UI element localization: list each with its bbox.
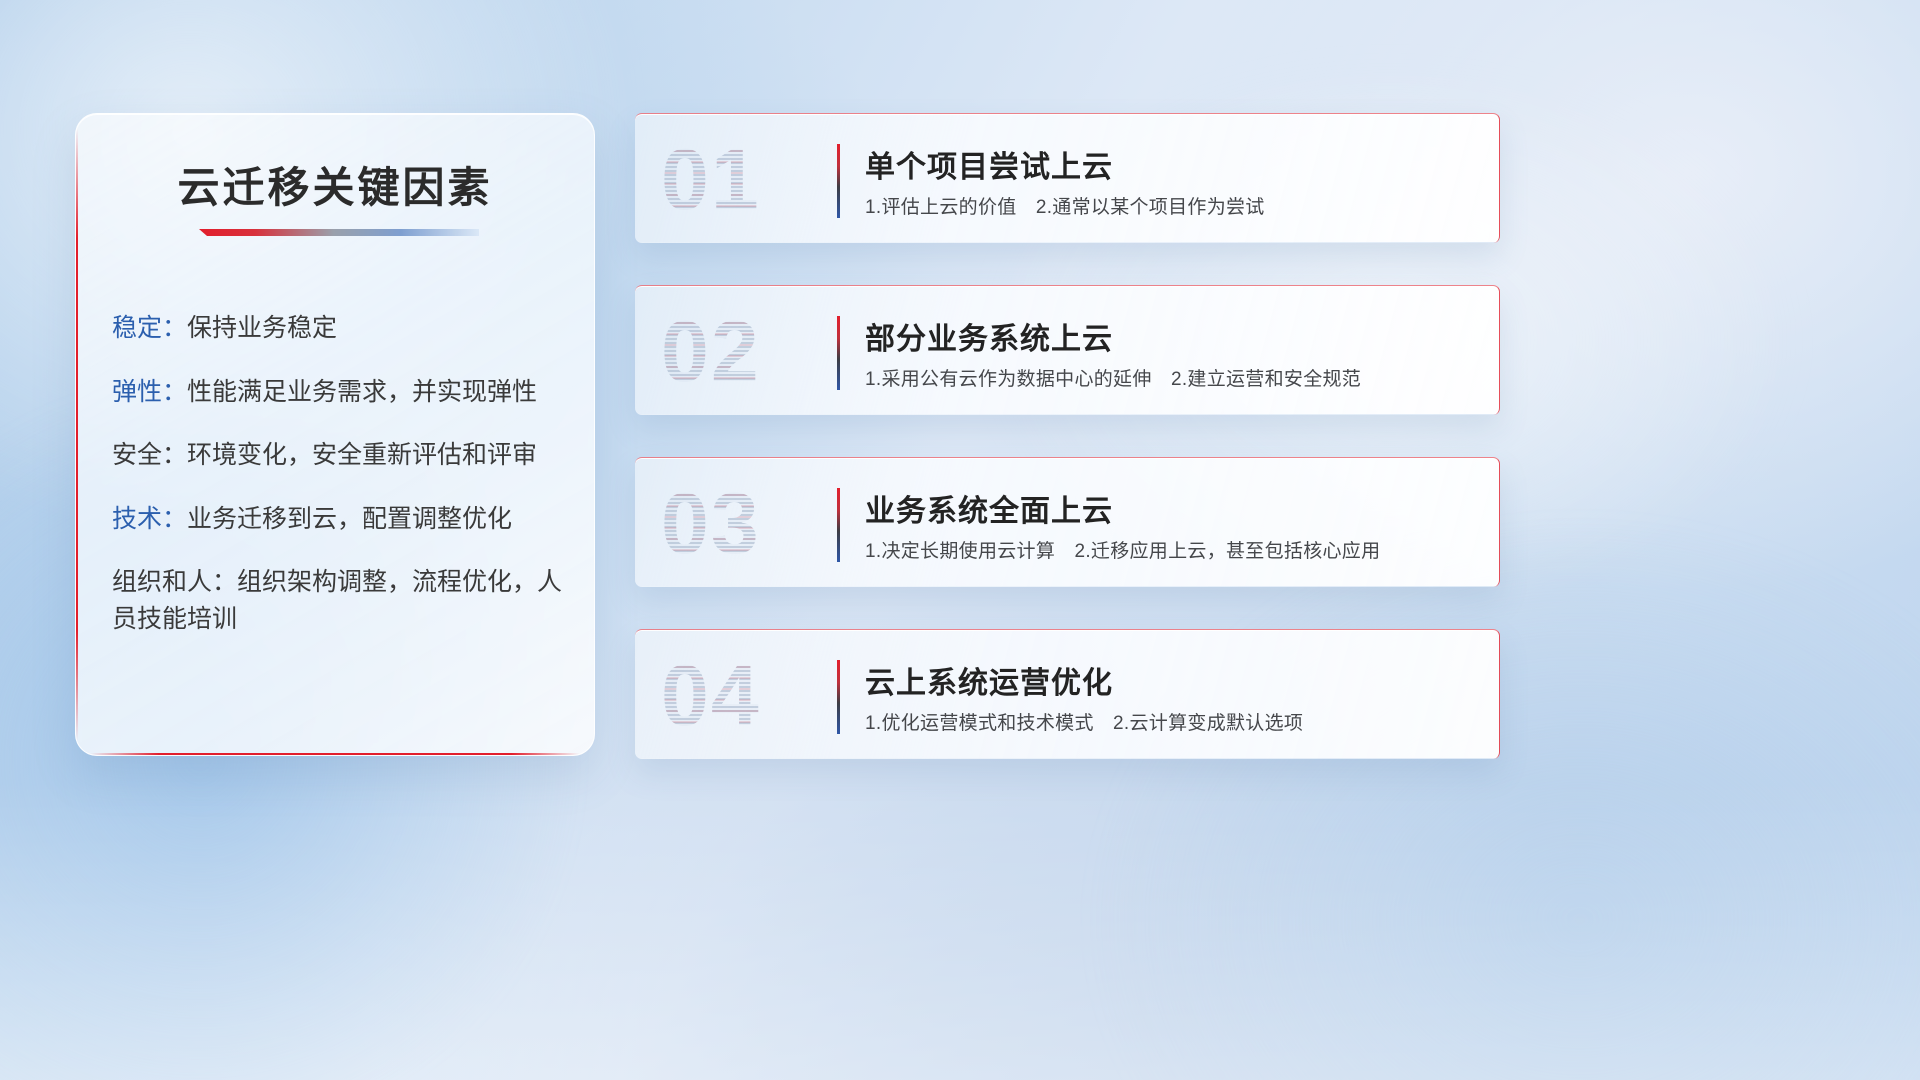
factor-text: 环境变化，安全重新评估和评审 bbox=[187, 441, 537, 469]
stage-card-list: 0101单个项目尝试上云1.评估上云的价值 2.通常以某个项目作为尝试0202部… bbox=[635, 113, 1500, 801]
factor-text: 性能满足业务需求，并实现弹性 bbox=[187, 378, 537, 406]
stage-number-glitch-overlay: 01 bbox=[661, 130, 816, 230]
stage-title: 云上系统运营优化 bbox=[865, 658, 1113, 702]
stage-description: 1.评估上云的价值 2.通常以某个项目作为尝试 bbox=[865, 192, 1265, 219]
background-bottom-sheen bbox=[0, 780, 1920, 1080]
stage-title: 业务系统全面上云 bbox=[865, 486, 1113, 530]
stage-divider-bar bbox=[837, 660, 840, 734]
stage-number-glitch-overlay: 03 bbox=[661, 474, 816, 574]
factor-key: 技术： bbox=[112, 505, 187, 533]
page-title: 云迁移关键因素 bbox=[76, 154, 594, 215]
stage-card[interactable]: 0101单个项目尝试上云1.评估上云的价值 2.通常以某个项目作为尝试 bbox=[635, 113, 1500, 243]
factor-item: 技术：业务迁移到云，配置调整优化 bbox=[112, 501, 570, 538]
factor-item: 安全：环境变化，安全重新评估和评审 bbox=[112, 437, 570, 474]
stage-divider-bar bbox=[837, 488, 840, 562]
factor-item: 弹性：性能满足业务需求，并实现弹性 bbox=[112, 374, 570, 411]
stage-divider-bar bbox=[837, 316, 840, 390]
factor-item: 组织和人：组织架构调整，流程优化，人员技能培训 bbox=[112, 564, 570, 637]
stage-card[interactable]: 0404云上系统运营优化1.优化运营模式和技术模式 2.云计算变成默认选项 bbox=[635, 629, 1500, 759]
factor-list: 稳定：保持业务稳定弹性：性能满足业务需求，并实现弹性安全：环境变化，安全重新评估… bbox=[112, 310, 570, 664]
factor-key: 安全： bbox=[112, 441, 187, 469]
stage-title: 部分业务系统上云 bbox=[865, 314, 1113, 358]
factor-key: 稳定： bbox=[112, 314, 187, 342]
stage-divider-bar bbox=[837, 144, 840, 218]
stage-number-glitch-overlay: 04 bbox=[661, 646, 816, 746]
stage-description: 1.采用公有云作为数据中心的延伸 2.建立运营和安全规范 bbox=[865, 364, 1361, 391]
factor-key: 组织和人： bbox=[112, 568, 237, 596]
factor-key: 弹性： bbox=[112, 378, 187, 406]
title-underline-rule bbox=[199, 229, 479, 236]
stage-number-glitch-overlay: 02 bbox=[661, 302, 816, 402]
factor-text: 业务迁移到云，配置调整优化 bbox=[187, 505, 512, 533]
stage-card[interactable]: 0303业务系统全面上云1.决定长期使用云计算 2.迁移应用上云，甚至包括核心应… bbox=[635, 457, 1500, 587]
key-factors-panel: 云迁移关键因素 稳定：保持业务稳定弹性：性能满足业务需求，并实现弹性安全：环境变… bbox=[75, 113, 595, 756]
factor-text: 保持业务稳定 bbox=[187, 314, 337, 342]
stage-title: 单个项目尝试上云 bbox=[865, 142, 1113, 186]
stage-card[interactable]: 0202部分业务系统上云1.采用公有云作为数据中心的延伸 2.建立运营和安全规范 bbox=[635, 285, 1500, 415]
stage-description: 1.决定长期使用云计算 2.迁移应用上云，甚至包括核心应用 bbox=[865, 536, 1380, 563]
stage-description: 1.优化运营模式和技术模式 2.云计算变成默认选项 bbox=[865, 708, 1303, 735]
factor-item: 稳定：保持业务稳定 bbox=[112, 310, 570, 347]
